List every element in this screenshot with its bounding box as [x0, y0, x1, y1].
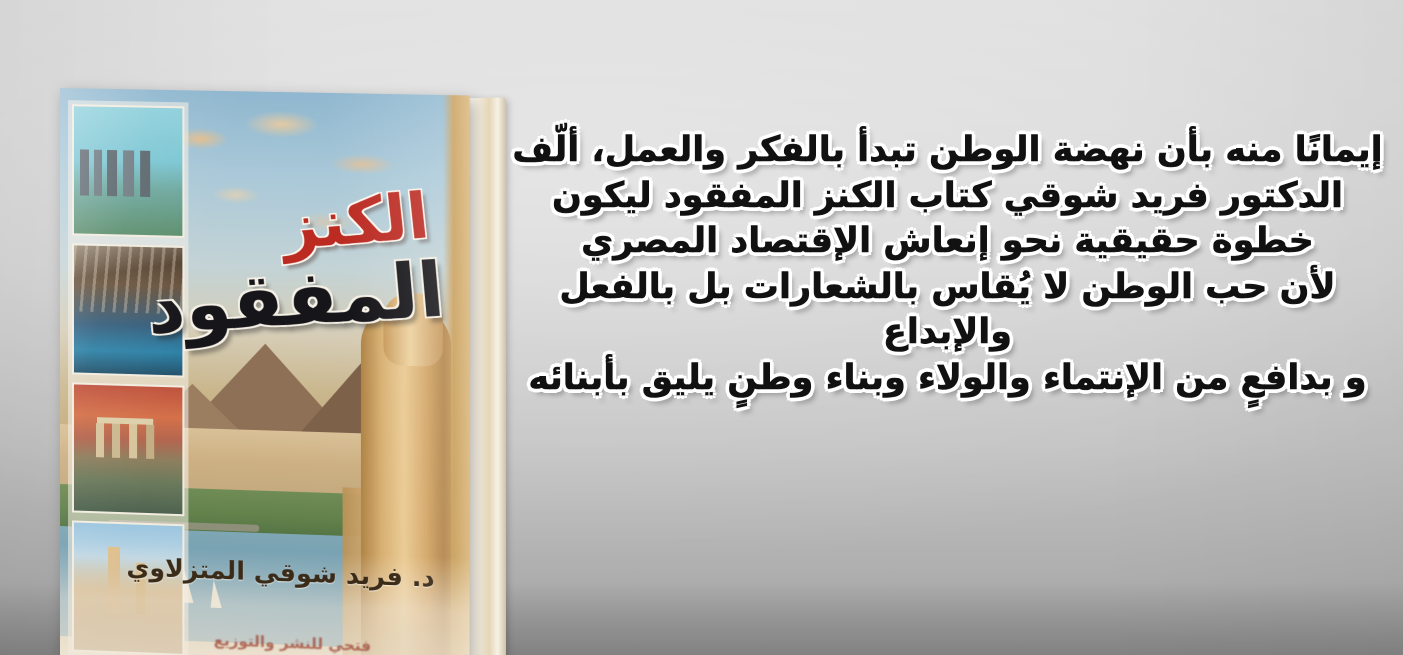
- promo-text-block: إيمانًا منه بأن نهضة الوطن تبدأ بالفكر و…: [500, 128, 1395, 401]
- promo-line: الدكتور فريد شوقي كتاب الكنز المفقود ليك…: [500, 174, 1395, 220]
- promo-line: والإبداع: [500, 310, 1395, 356]
- book-mockup: الكنز المفقود د. فريد شوقي المتزلاوي فتح…: [52, 88, 522, 655]
- promo-line: إيمانًا منه بأن نهضة الوطن تبدأ بالفكر و…: [500, 128, 1395, 174]
- karnak-obelisks-photo: [72, 521, 184, 655]
- book-front-cover: الكنز المفقود د. فريد شوقي المتزلاوي فتح…: [60, 88, 470, 655]
- promo-line: لأن حب الوطن لا يُقاس بالشعارات بل بالفع…: [500, 265, 1395, 311]
- promo-line: و بدافعٍ من الإنتماء والولاء وبناء وطنٍ …: [500, 356, 1395, 402]
- cover-warm-edge-band: [443, 95, 470, 655]
- promo-graphic-canvas: الكنز المفقود د. فريد شوقي المتزلاوي فتح…: [0, 0, 1403, 655]
- philae-temple-sunset-photo: [72, 382, 184, 517]
- city-skyline-photo: [72, 104, 184, 237]
- promo-line: خطوة حقيقية نحو إنعاش الإقتصاد المصري: [500, 219, 1395, 265]
- book-title-secondary: المفقود: [144, 253, 448, 346]
